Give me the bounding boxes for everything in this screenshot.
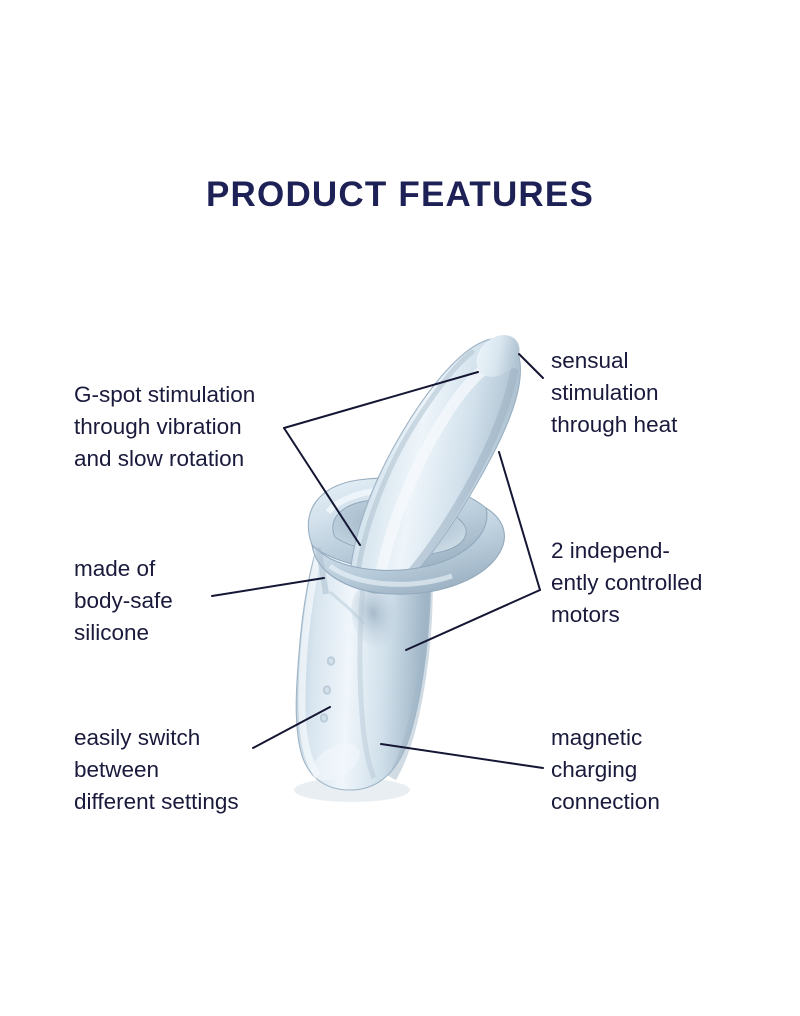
product-features-diagram: PRODUCT FEATURES: [0, 0, 800, 1016]
product-illustration: [0, 0, 800, 1016]
